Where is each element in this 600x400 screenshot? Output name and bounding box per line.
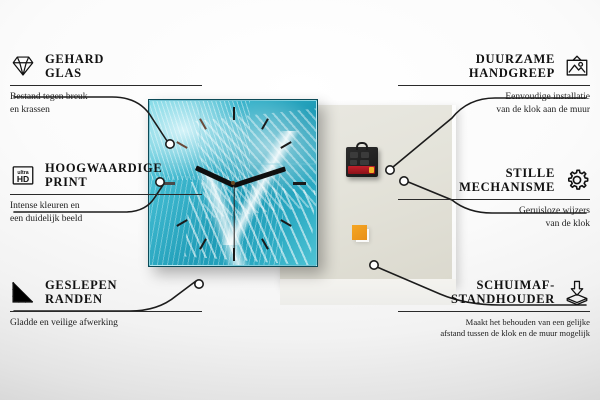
ultra-hd-icon: ultra HD (10, 162, 36, 188)
beveled-edges-icon (10, 279, 36, 305)
clock-tick (261, 118, 269, 129)
clock-center-cap (231, 181, 235, 185)
clock-tick (199, 118, 207, 129)
clock-tick (199, 238, 207, 249)
feature-gehard-glas[interactable]: GEHARDGLAS Bestand tegen breuken krassen (10, 52, 202, 116)
clock-mechanism (346, 147, 378, 177)
mechanism-knob (350, 152, 358, 158)
svg-text:HD: HD (17, 174, 29, 184)
divider (10, 194, 202, 195)
feather-highlight (223, 131, 309, 246)
divider (398, 199, 590, 200)
clock-tick (280, 141, 291, 149)
feature-title: DUURZAMEHANDGREEP (398, 52, 555, 81)
divider (398, 85, 590, 86)
mechanism-hanging-hook (356, 142, 368, 150)
feature-title: STILLEMECHANISME (398, 166, 555, 195)
picture-frame-icon (564, 53, 590, 79)
diamond-icon (10, 53, 36, 79)
feature-title: HOOGWAARDIGEPRINT (45, 161, 202, 190)
mechanism-knob (350, 160, 357, 165)
feature-hoogwaardige-print[interactable]: ultra HD HOOGWAARDIGEPRINT Intense kleur… (10, 161, 202, 225)
feature-description: Gladde en veilige afwerking (10, 317, 202, 330)
feature-description: Eenvoudige installatievan de klok aan de… (398, 91, 590, 117)
divider (10, 311, 202, 312)
feather-streak (195, 108, 317, 219)
mechanism-knob (361, 152, 369, 158)
feature-schuimaf-standhouder[interactable]: SCHUIMAF-STANDHOUDER Maakt het behouden … (398, 278, 590, 340)
clock-tick (261, 238, 269, 249)
stamp-down-arrow-icon (564, 279, 590, 305)
feature-title: GESLEPENRANDEN (45, 278, 202, 307)
clock-tick (293, 182, 306, 185)
mechanism-knob (360, 160, 369, 165)
feather-streak (184, 182, 315, 266)
clock-tick (233, 107, 235, 120)
divider (10, 85, 202, 86)
feature-duurzame-handgreep[interactable]: DUURZAMEHANDGREEP Eenvoudige installatie… (398, 52, 590, 116)
feature-stille-mechanisme[interactable]: STILLEMECHANISME Geruisloze wijzersvan d… (398, 166, 590, 230)
infographic-canvas: GEHARDGLAS Bestand tegen breuken krassen… (0, 0, 600, 400)
gear-icon (564, 167, 590, 193)
clock-minute-hand (233, 166, 286, 187)
feature-description: Maakt het behouden van een gelijkeafstan… (398, 317, 590, 340)
feature-title: GEHARDGLAS (45, 52, 202, 81)
feature-description: Bestand tegen breuken krassen (10, 91, 202, 117)
mechanism-battery (348, 166, 375, 174)
clock-tick (280, 219, 291, 227)
clock-tick (176, 141, 187, 149)
foam-spacer-pad (352, 225, 367, 240)
feature-geslepen-randen[interactable]: GESLEPENRANDEN Gladde en veilige afwerki… (10, 278, 202, 330)
feature-description: Intense kleuren eneen duidelijk beeld (10, 200, 202, 226)
clock-second-hand (233, 185, 234, 253)
feature-description: Geruisloze wijzersvan de klok (398, 205, 590, 231)
feature-title: SCHUIMAF-STANDHOUDER (398, 278, 555, 307)
divider (398, 311, 590, 312)
